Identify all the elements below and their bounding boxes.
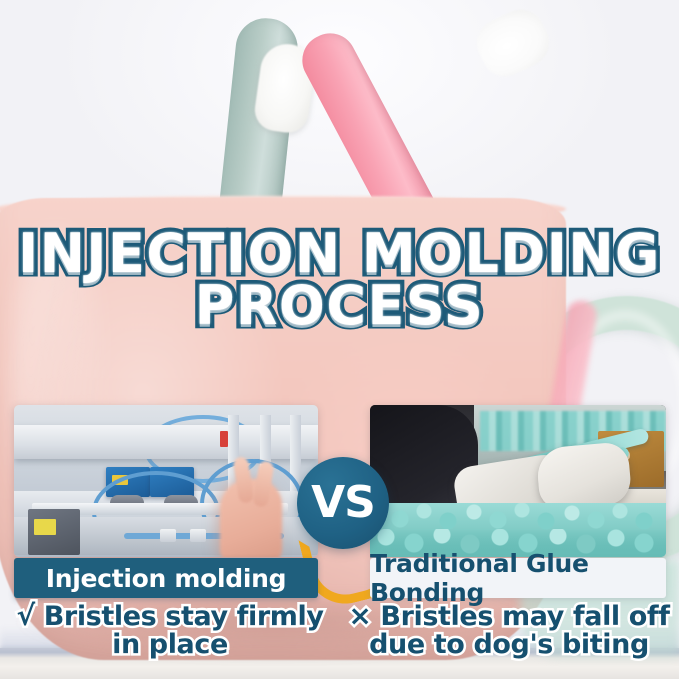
caption-left-line-1-wrapper: √ Bristles stay firmly bbox=[10, 602, 330, 631]
photo-glue-bonding: Ap bbox=[370, 405, 666, 557]
glue-bonding-scene: Ap bbox=[370, 405, 666, 557]
machine-frame-top bbox=[14, 425, 318, 459]
caption-right-line-2: due to dog's biting bbox=[344, 631, 674, 659]
machine-warning-label bbox=[34, 519, 56, 535]
page-title: INJECTION MOLDING PROCESS bbox=[0, 228, 679, 332]
gloved-hand bbox=[535, 441, 632, 511]
page-title-line-2: PROCESS bbox=[0, 280, 679, 332]
checkmark-icon: √ bbox=[16, 599, 34, 632]
caption-right-line-1-wrapper: × Bristles may fall off bbox=[344, 602, 674, 631]
tube-connector-2 bbox=[190, 529, 206, 542]
product-comparison-infographic: INJECTION MOLDING PROCESS bbox=[0, 0, 679, 679]
tube-connector-1 bbox=[160, 529, 176, 542]
label-traditional-glue-bonding: Traditional Glue Bonding bbox=[370, 558, 666, 598]
machine-scene bbox=[14, 405, 318, 557]
machine-indicator-light bbox=[220, 431, 228, 447]
caption-glue-bonding: × Bristles may fall off due to dog's bit… bbox=[344, 602, 674, 659]
label-traditional-glue-bonding-text: Traditional Glue Bonding bbox=[370, 549, 666, 607]
vs-badge-label: VS bbox=[311, 481, 375, 525]
caption-left-line-1: Bristles stay firmly bbox=[44, 601, 324, 632]
vs-badge: VS bbox=[297, 457, 389, 549]
caption-injection-molding: √ Bristles stay firmly in place bbox=[10, 602, 330, 659]
photo-injection-molding bbox=[14, 405, 318, 557]
label-injection-molding: Injection molding bbox=[14, 558, 318, 598]
label-injection-molding-text: Injection molding bbox=[46, 564, 287, 593]
caption-left-line-2: in place bbox=[10, 631, 330, 659]
cross-icon: × bbox=[348, 599, 371, 632]
caption-right-line-1: Bristles may fall off bbox=[380, 601, 669, 632]
page-title-line-1: INJECTION MOLDING bbox=[0, 228, 679, 280]
